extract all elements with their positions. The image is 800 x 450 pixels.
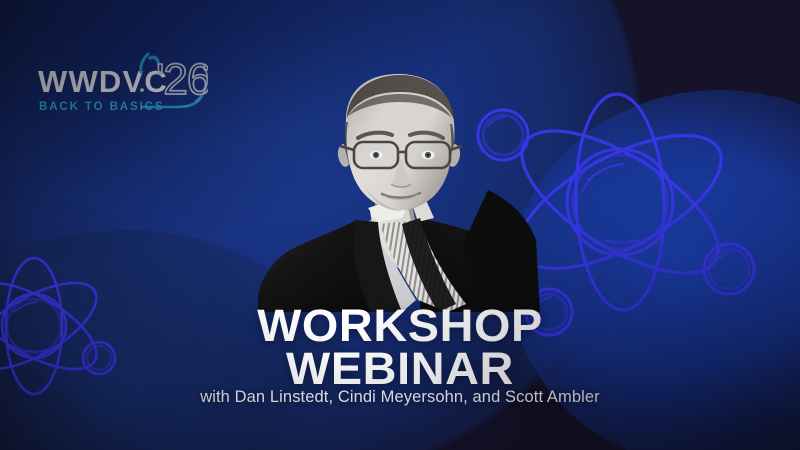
speaker-portrait: [252, 60, 544, 312]
hero-subtitle: with Dan Linstedt, Cindi Meyersohn, and …: [0, 388, 800, 407]
hero-title-line-2: WEBINAR: [0, 347, 800, 390]
logo-tagline-text: BACK TO BASICS: [39, 101, 164, 113]
hero-title: WORKSHOP WEBINAR: [0, 304, 800, 390]
logo-wordmark-text: WWDVC: [38, 64, 168, 99]
hero-title-line-1: WORKSHOP: [0, 304, 800, 347]
webinar-promo-banner: WWDVC '26 BACK TO BASICS WWDVC '26 BACK …: [0, 0, 800, 450]
wwdvc-logo[interactable]: WWDVC '26 BACK TO BASICS: [38, 48, 208, 116]
